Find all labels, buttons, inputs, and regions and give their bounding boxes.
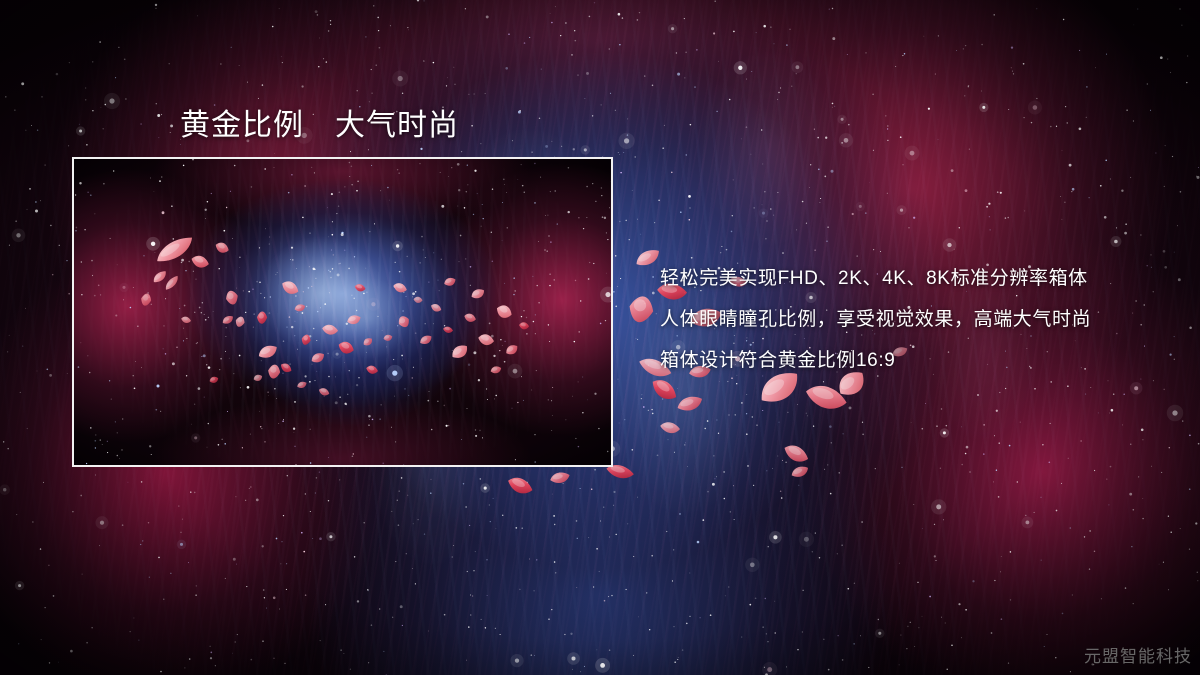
body-copy-block: 轻松完美实现FHD、2K、4K、8K标准分辨率箱体 人体眼睛瞳孔比例，享受视觉效… xyxy=(660,258,1170,381)
falling-petals-preview xyxy=(74,159,613,467)
starfield-preview xyxy=(74,159,613,467)
watermark-logo-text: 元盟智能科技 xyxy=(1084,642,1192,667)
body-copy-line-3: 箱体设计符合黄金比例16:9 xyxy=(660,340,1170,381)
presentation-slide: 黄金比例 大气时尚 轻松完美实现FHD、2K、4K、8K标准分辨率箱体 人体眼睛… xyxy=(0,0,1200,675)
preview-nebula-core xyxy=(74,159,611,465)
body-copy-line-2: 人体眼睛瞳孔比例，享受视觉效果，高端大气时尚 xyxy=(660,299,1170,340)
preview-nebula-filaments xyxy=(74,159,611,465)
preview-image-frame[interactable] xyxy=(72,157,613,467)
preview-nebula-background xyxy=(74,159,611,465)
body-copy-line-1: 轻松完美实现FHD、2K、4K、8K标准分辨率箱体 xyxy=(660,258,1170,299)
page-title: 黄金比例 大气时尚 xyxy=(180,100,459,144)
